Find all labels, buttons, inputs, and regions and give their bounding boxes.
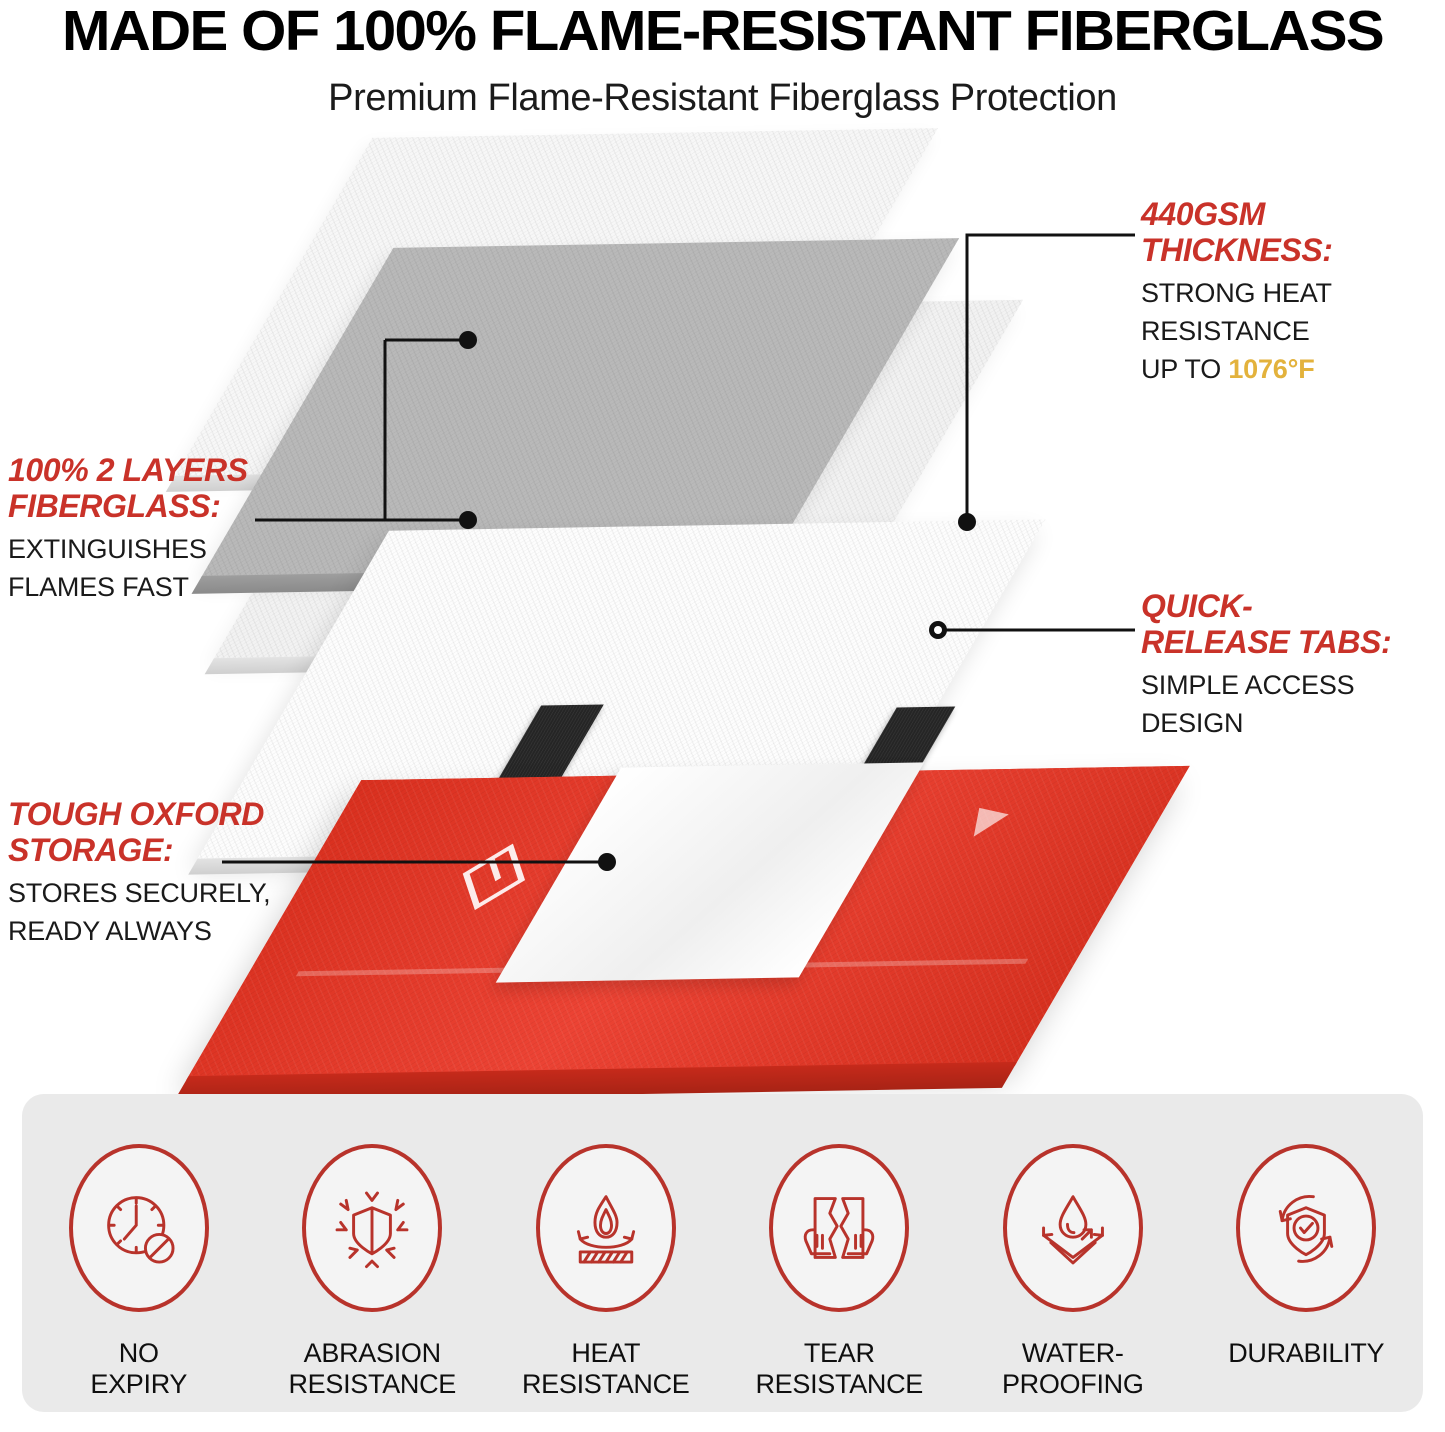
feature-label-line1: TEAR <box>739 1338 939 1369</box>
feature-panel: NO EXPIRY AB <box>22 1094 1423 1412</box>
feature-label-line1: ABRASION <box>272 1338 472 1369</box>
durability-shield-icon <box>1236 1144 1376 1312</box>
feature-heat-label: HEAT RESISTANCE <box>506 1338 706 1400</box>
callout-tabs-body: SIMPLE ACCESS DESIGN <box>1141 666 1441 742</box>
feature-durability-label: DURABILITY <box>1206 1338 1406 1369</box>
callout-thickness-line3-prefix: UP TO <box>1141 354 1228 384</box>
heat-flame-icon <box>536 1144 676 1312</box>
feature-abrasion-resistance: ABRASION RESISTANCE <box>272 1144 472 1400</box>
callout-tabs-title-line1: QUICK- <box>1141 588 1441 624</box>
callout-layers-line2: FLAMES FAST <box>8 568 308 606</box>
callout-thickness: 440GSM THICKNESS: STRONG HEAT RESISTANCE… <box>1141 196 1441 388</box>
callout-tabs-line1: SIMPLE ACCESS <box>1141 666 1441 704</box>
callout-layers-title-line1: 100% 2 LAYERS <box>8 452 308 488</box>
callout-oxford-line1: STORES SECURELY, <box>8 874 338 912</box>
callout-layers: 100% 2 LAYERS FIBERGLASS: EXTINGUISHES F… <box>8 452 308 606</box>
callout-layers-body: EXTINGUISHES FLAMES FAST <box>8 530 308 606</box>
callout-thickness-line3: UP TO 1076°F <box>1141 350 1441 388</box>
feature-durability: DURABILITY <box>1206 1144 1406 1369</box>
callout-thickness-line1: STRONG HEAT <box>1141 274 1441 312</box>
no-expiry-clock-icon <box>69 1144 209 1312</box>
feature-no-expiry: NO EXPIRY <box>39 1144 239 1400</box>
callout-tabs-title: QUICK- RELEASE TABS: <box>1141 588 1441 660</box>
callout-tabs-line2: DESIGN <box>1141 704 1441 742</box>
pouch-badge-icon <box>463 844 525 911</box>
feature-label-line2: RESISTANCE <box>272 1369 472 1400</box>
pouch-arrow-icon-secondary <box>959 808 1009 840</box>
feature-label-line1: DURABILITY <box>1206 1338 1406 1369</box>
callout-oxford-title: TOUGH OXFORD STORAGE: <box>8 796 338 868</box>
feature-label-line1: WATER- <box>973 1338 1173 1369</box>
callout-oxford-title-line2: STORAGE: <box>8 832 338 868</box>
abrasion-shield-icon <box>302 1144 442 1312</box>
callout-thickness-body: STRONG HEAT RESISTANCE UP TO 1076°F <box>1141 274 1441 388</box>
callout-tabs-title-line2: RELEASE TABS: <box>1141 624 1441 660</box>
callout-layers-line1: EXTINGUISHES <box>8 530 308 568</box>
feature-list: NO EXPIRY AB <box>22 1094 1423 1412</box>
temperature-value: 1076°F <box>1228 354 1314 384</box>
callout-thickness-line2: RESISTANCE <box>1141 312 1441 350</box>
callout-oxford-body: STORES SECURELY, READY ALWAYS <box>8 874 338 950</box>
feature-abrasion-label: ABRASION RESISTANCE <box>272 1338 472 1400</box>
page-headline: MADE OF 100% FLAME-RESISTANT FIBERGLASS <box>0 2 1445 60</box>
header: MADE OF 100% FLAME-RESISTANT FIBERGLASS … <box>0 0 1445 140</box>
feature-label-line1: NO <box>39 1338 239 1369</box>
callout-thickness-title: 440GSM THICKNESS: <box>1141 196 1441 268</box>
callout-oxford-line2: READY ALWAYS <box>8 912 338 950</box>
callout-oxford-storage: TOUGH OXFORD STORAGE: STORES SECURELY, R… <box>8 796 338 950</box>
feature-tear-resistance: TEAR RESISTANCE <box>739 1144 939 1400</box>
feature-label-line1: HEAT <box>506 1338 706 1369</box>
feature-tear-label: TEAR RESISTANCE <box>739 1338 939 1400</box>
callout-layers-title: 100% 2 LAYERS FIBERGLASS: <box>8 452 308 524</box>
feature-waterproofing-label: WATER- PROOFING <box>973 1338 1173 1400</box>
feature-waterproofing: WATER- PROOFING <box>973 1144 1173 1400</box>
feature-label-line2: RESISTANCE <box>506 1369 706 1400</box>
callout-layers-title-line2: FIBERGLASS: <box>8 488 308 524</box>
feature-label-line2: EXPIRY <box>39 1369 239 1400</box>
waterproof-droplet-icon <box>1003 1144 1143 1312</box>
feature-label-line2: RESISTANCE <box>739 1369 939 1400</box>
feature-label-line2: PROOFING <box>973 1369 1173 1400</box>
feature-heat-resistance: HEAT RESISTANCE <box>506 1144 706 1400</box>
callout-quick-release-tabs: QUICK- RELEASE TABS: SIMPLE ACCESS DESIG… <box>1141 588 1441 742</box>
callout-oxford-title-line1: TOUGH OXFORD <box>8 796 338 832</box>
feature-no-expiry-label: NO EXPIRY <box>39 1338 239 1400</box>
page-subtitle: Premium Flame-Resistant Fiberglass Prote… <box>0 76 1445 120</box>
tear-hands-icon <box>769 1144 909 1312</box>
